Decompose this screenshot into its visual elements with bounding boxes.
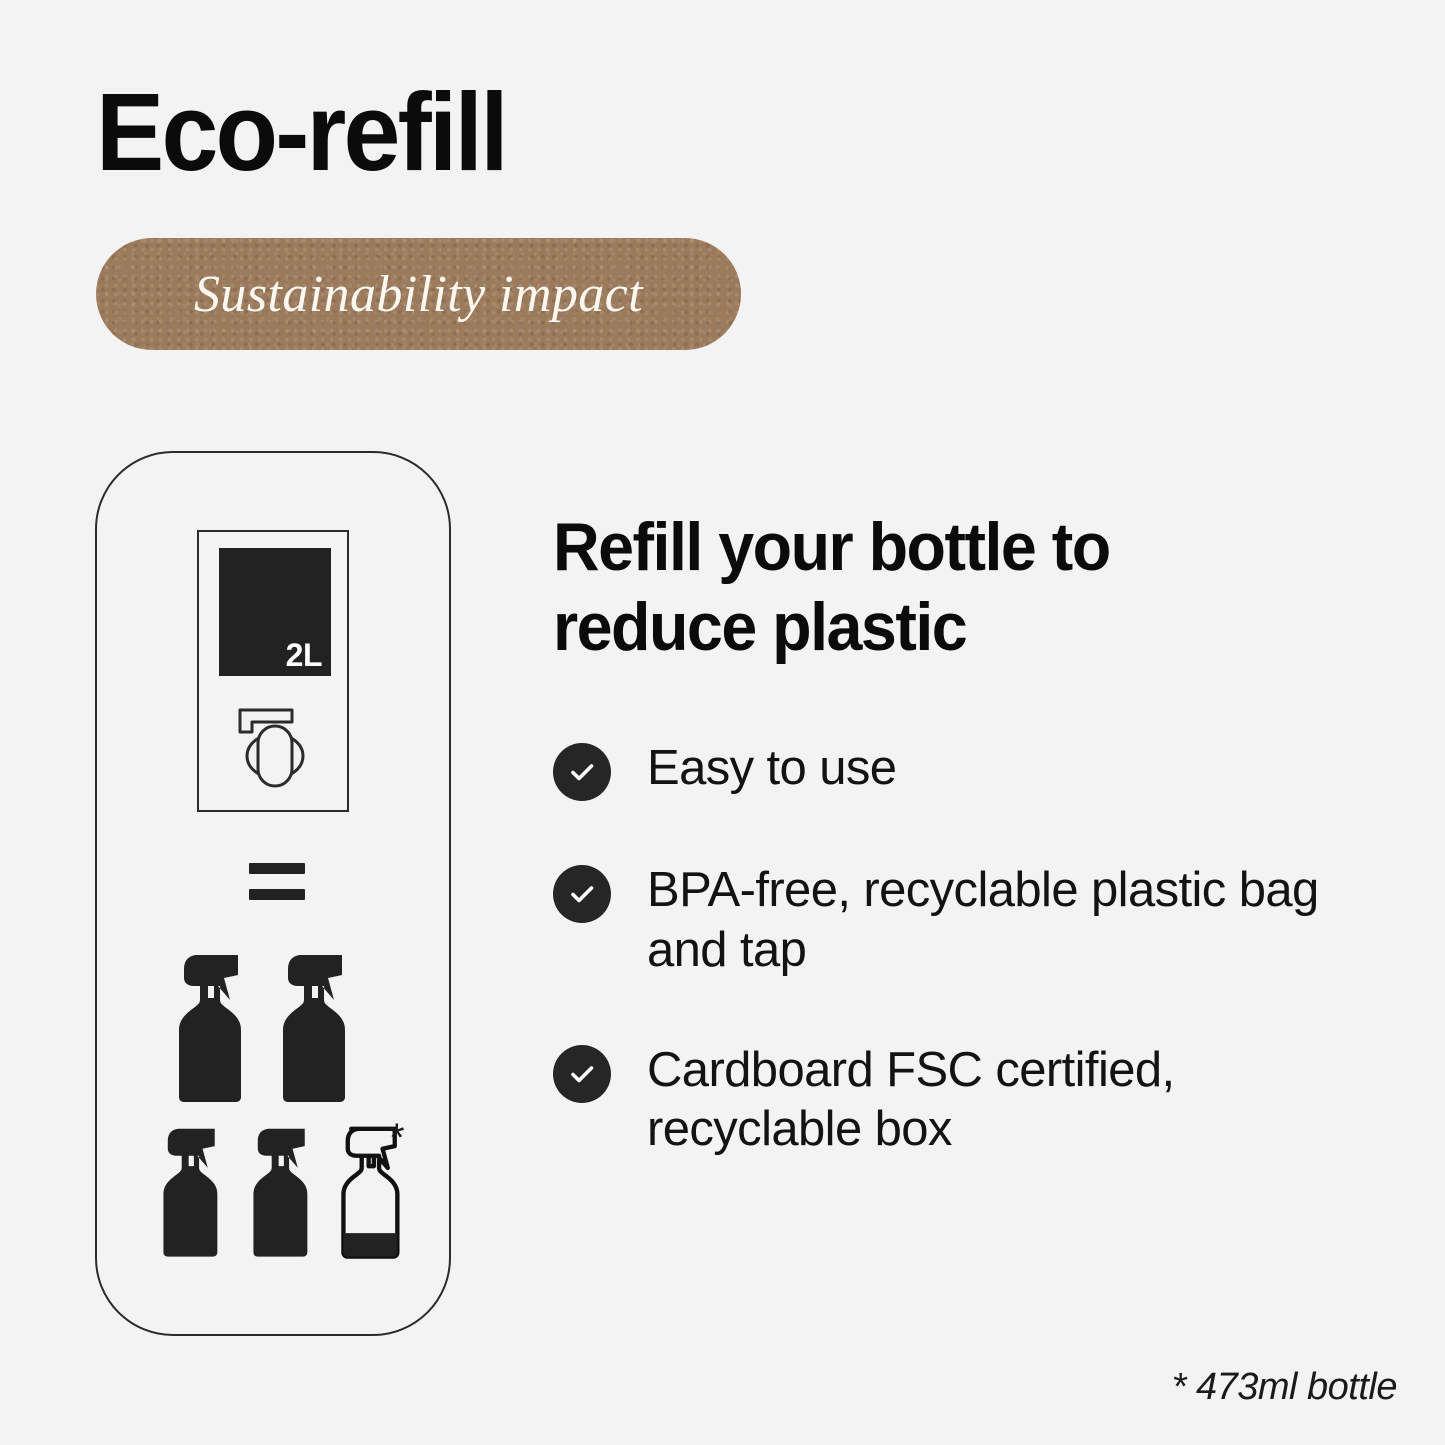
carton-label-panel: 2L (219, 548, 331, 676)
list-item: BPA-free, recyclable plastic bag and tap (553, 861, 1373, 981)
spray-bottle-icon (271, 947, 363, 1113)
bottle-row-two (167, 947, 363, 1113)
asterisk-marker: * (389, 1118, 405, 1158)
carton-volume-label: 2L (286, 639, 322, 671)
spray-bottle-icon (243, 1121, 323, 1267)
list-item: Cardboard FSC certified, recyclable box (553, 1041, 1373, 1161)
bottle-row-three (153, 1121, 413, 1267)
footnote: * 473ml bottle (1172, 1366, 1397, 1409)
list-item-label: Easy to use (647, 739, 896, 799)
illustration-card: 2L (95, 451, 451, 1336)
equals-bar-top (249, 863, 305, 874)
tap-icon (234, 700, 316, 790)
content-column: Refill your bottle to reduce plastic Eas… (553, 508, 1373, 1160)
badge-label: Sustainability impact (194, 265, 643, 324)
check-circle-icon (553, 743, 611, 801)
check-circle-icon (553, 1045, 611, 1103)
list-item: Easy to use (553, 739, 1373, 801)
spray-bottle-icon (167, 947, 259, 1113)
list-item-label: Cardboard FSC certified, recyclable box (647, 1041, 1347, 1161)
benefits-list: Easy to use BPA-free, recyclable plastic… (553, 739, 1373, 1160)
check-circle-icon (553, 865, 611, 923)
spray-bottle-icon (153, 1121, 233, 1267)
equals-bar-bottom (249, 889, 305, 900)
infographic-canvas: Eco-refill Sustainability impact 2L (0, 0, 1445, 1445)
refill-carton: 2L (197, 530, 349, 812)
sustainability-impact-badge: Sustainability impact (96, 238, 741, 350)
equals-symbol (249, 863, 305, 905)
page-title: Eco-refill (96, 78, 506, 188)
headline: Refill your bottle to reduce plastic (553, 508, 1237, 667)
list-item-label: BPA-free, recyclable plastic bag and tap (647, 861, 1347, 981)
